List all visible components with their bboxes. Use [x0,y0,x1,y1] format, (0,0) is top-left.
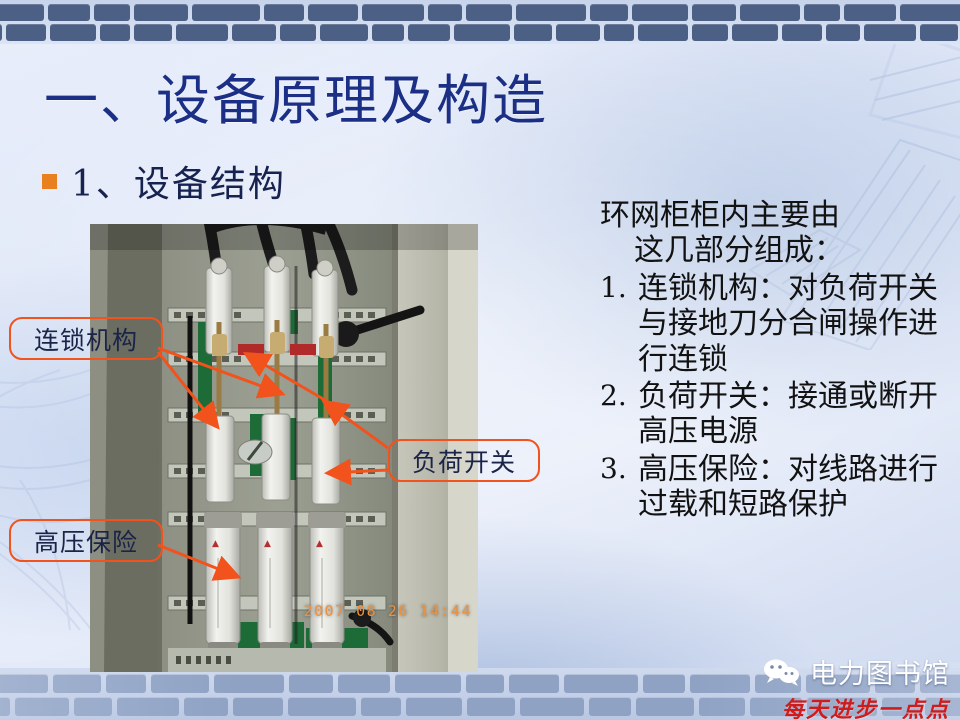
body-list-item-1: 1. 连锁机构：对负荷开关与接地刀分合闸操作进行连锁 [600,271,952,377]
svg-text:▲: ▲ [264,539,271,549]
brick-border-top [0,0,960,44]
body-list-number-3: 3. [600,452,627,485]
watermark-name: 电力图书馆 [810,652,950,691]
body-list-number-1: 1. [600,271,627,304]
square-bullet-icon [42,174,57,189]
body-intro: 环网柜柜内主要由 这几部分组成： [600,198,952,269]
svg-text:▲: ▲ [316,539,323,549]
body-text-block: 环网柜柜内主要由 这几部分组成： 1. 连锁机构：对负荷开关与接地刀分合闸操作进… [600,198,952,525]
body-list-item-3: 3. 高压保险：对线路进行过载和短路保护 [600,452,952,523]
body-intro-line1: 环网柜柜内主要由 [600,198,840,233]
subtitle-text: 1、设备结构 [71,155,286,207]
body-list-number-2: 2. [600,379,627,412]
callout-load-switch[interactable]: 负荷开关 [388,439,540,482]
watermark: 电力图书馆 每天进步一点点 [736,652,950,712]
svg-text:▲: ▲ [212,539,219,549]
page-title: 一、设备原理及构造 [44,72,548,129]
subtitle-row: 1、设备结构 [42,155,286,207]
callout-interlock-mechanism[interactable]: 连锁机构 [9,317,163,360]
body-list-text-1: 连锁机构：对负荷开关与接地刀分合闸操作进行连锁 [638,271,938,377]
watermark-row: 电力图书馆 [736,652,950,691]
photo-timestamp: 2007 08 26 14:44 [304,602,473,620]
body-list-text-3: 高压保险：对线路进行过载和短路保护 [638,452,938,522]
wechat-icon [762,658,802,686]
callout-hv-fuse[interactable]: 高压保险 [9,519,163,562]
body-list-item-2: 2. 负荷开关：接通或断开高压电源 [600,379,952,450]
body-list-text-2: 负荷开关：接通或断开高压电源 [638,379,938,449]
watermark-slogan: 每天进步一点点 [736,692,950,720]
slide-canvas: 一、设备原理及构造 1、设备结构 [0,0,960,720]
body-intro-line2: 这几部分组成： [600,233,952,268]
